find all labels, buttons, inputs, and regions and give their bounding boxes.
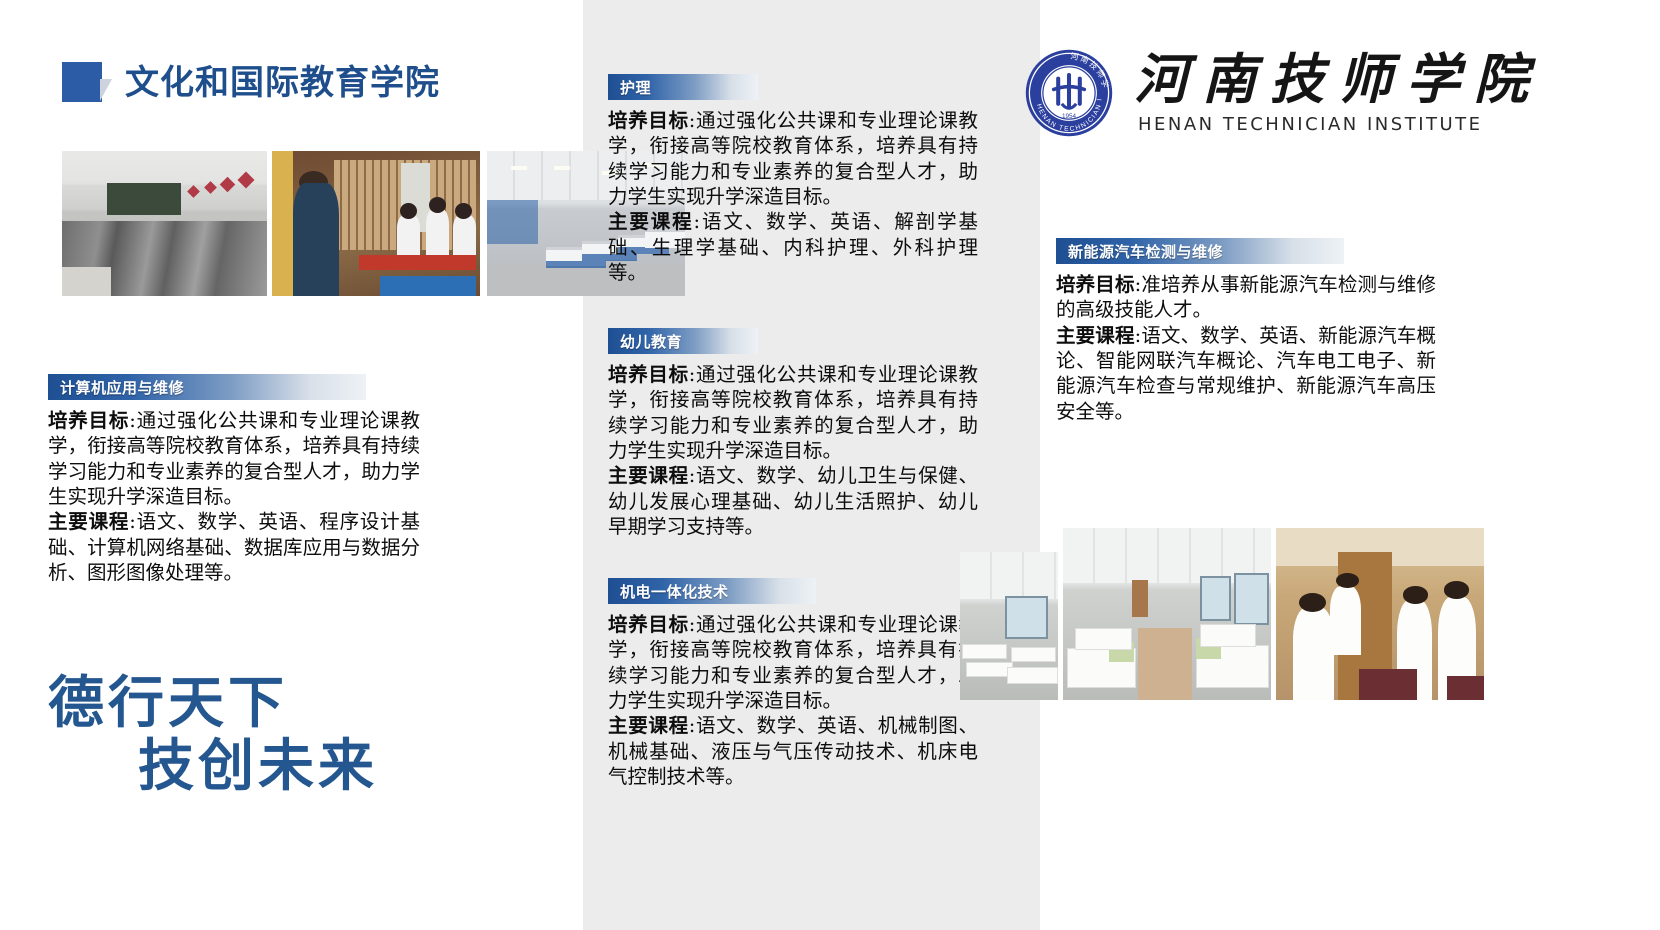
program-body-early-childhood: 培养目标:通过强化公共课和专业理论课教学，衔接高等院校教育体系，培养具有持续学习… [608, 362, 978, 539]
section-title-early-childhood: 幼儿教育 [608, 331, 682, 352]
department-title: 文化和国际教育学院 [125, 66, 440, 100]
slogan: 德行天下 技创未来 [48, 672, 468, 797]
computer-lab-photo [62, 151, 267, 296]
courses-label: 主要课程 [608, 210, 694, 233]
institute-name-cn: 河南技师学院 [1134, 51, 1542, 108]
courses-label: 主要课程 [608, 714, 689, 737]
program-block-computer: 计算机应用与维修 培养目标:通过强化公共课和专业理论课教学，衔接高等院校教育体系… [48, 374, 420, 585]
section-banner-mechatronics: 机电一体化技术 [608, 578, 816, 604]
program-block-nursing: 护理 培养目标:通过强化公共课和专业理论课教学，衔接高等院校教育体系，培养具有持… [608, 74, 978, 285]
goal-label: 培养目标 [1056, 273, 1135, 296]
brochure-page: 文化和国际教育学院 [0, 0, 1660, 930]
slogan-line-1: 德行天下 [48, 672, 468, 735]
left-column: 文化和国际教育学院 [0, 0, 583, 930]
section-banner-early-childhood: 幼儿教育 [608, 328, 758, 354]
program-body-mechatronics: 培养目标:通过强化公共课和专业理论课教学，衔接高等院校教育体系，培养具有持续学习… [608, 612, 978, 789]
program-block-early-childhood: 幼儿教育 培养目标:通过强化公共课和专业理论课教学，衔接高等院校教育体系，培养具… [608, 328, 978, 539]
program-body-new-energy-vehicle: 培养目标:准培养从事新能源汽车检测与维修的高级技能人才。 主要课程:语文、数学、… [1056, 272, 1436, 424]
section-title-nursing: 护理 [608, 77, 651, 98]
slogan-line-2: 技创未来 [48, 735, 468, 798]
section-title-new-energy-vehicle: 新能源汽车检测与维修 [1056, 241, 1223, 262]
section-title-computer: 计算机应用与维修 [48, 377, 184, 398]
right-column: 1954 HENAN TECHNICIAN INSTITUTE 河南技师学院 河… [1040, 0, 1660, 930]
courses-label: 主要课程 [608, 464, 689, 487]
dorm-room-photo [960, 552, 1058, 700]
middle-column: 护理 培养目标:通过强化公共课和专业理论课教学，衔接高等院校教育体系，培养具有持… [583, 0, 1040, 930]
square-marker-icon [62, 62, 108, 104]
courses-label: 主要课程 [48, 510, 129, 533]
section-banner-computer: 计算机应用与维修 [48, 374, 366, 400]
institute-name-en: HENAN TECHNICIAN INSTITUTE [1134, 114, 1542, 135]
institute-logo: 1954 HENAN TECHNICIAN INSTITUTE 河南技师学院 河… [1024, 48, 1542, 138]
program-body-computer: 培养目标:通过强化公共课和专业理论课教学，衔接高等院校教育体系，培养具有持续学习… [48, 408, 420, 585]
section-banner-nursing: 护理 [608, 74, 758, 100]
svg-text:1954: 1954 [1062, 113, 1077, 120]
goal-label: 培养目标 [608, 109, 689, 132]
section-banner-new-energy-vehicle: 新能源汽车检测与维修 [1056, 238, 1344, 264]
program-block-new-energy-vehicle: 新能源汽车检测与维修 培养目标:准培养从事新能源汽车检测与维修的高级技能人才。 … [1056, 238, 1436, 424]
nursing-practice-ward-photo [1063, 528, 1271, 700]
program-body-nursing: 培养目标:通过强化公共课和专业理论课教学，衔接高等院校教育体系，培养具有持续学习… [608, 108, 978, 285]
goal-label: 培养目标 [608, 613, 689, 636]
program-block-mechatronics: 机电一体化技术 培养目标:通过强化公共课和专业理论课教学，衔接高等院校教育体系，… [608, 578, 978, 789]
page-title: 文化和国际教育学院 [62, 62, 440, 104]
kindergarten-classroom-photo [272, 151, 480, 296]
nursing-practice-clinic-photo [1276, 528, 1484, 700]
institute-seal-icon: 1954 HENAN TECHNICIAN INSTITUTE 河南技师学院 [1024, 48, 1114, 138]
courses-label: 主要课程 [1056, 324, 1135, 347]
section-title-mechatronics: 机电一体化技术 [608, 581, 729, 602]
goal-label: 培养目标 [608, 363, 689, 386]
goal-label: 培养目标 [48, 409, 129, 432]
